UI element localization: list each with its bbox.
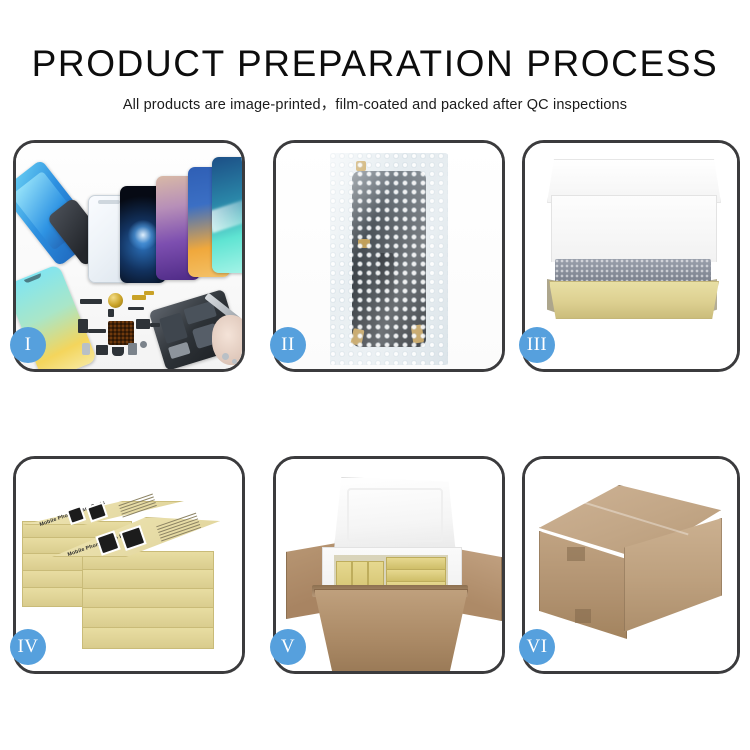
part-gold-flex-2 xyxy=(144,291,154,295)
step-4-artwork: Mobile Phone Spare Parts xyxy=(16,459,242,671)
step-badge-6: VI xyxy=(519,629,555,665)
part-strip-3 xyxy=(88,329,106,333)
stacked-box-fr-5 xyxy=(82,627,214,649)
step-badge-1: I xyxy=(10,327,46,363)
box-window-bl-b-screen xyxy=(88,504,105,520)
box-window-bl-a-screen xyxy=(68,507,83,522)
step-1-artwork xyxy=(16,143,242,369)
part-gold-flex-1 xyxy=(132,295,146,300)
step-5-artwork xyxy=(276,459,502,671)
carton-body xyxy=(314,589,468,671)
step-panel-6[interactable]: VI xyxy=(522,456,740,674)
carton-flap-tab-lower xyxy=(575,609,591,623)
part-screw-1 xyxy=(222,353,229,360)
speaker-module-icon xyxy=(108,293,123,308)
part-camera-lens xyxy=(82,343,90,355)
step-grid: I II xyxy=(0,0,750,750)
part-strip-4 xyxy=(150,323,160,327)
step-panel-3[interactable]: III xyxy=(522,140,740,372)
part-block-2 xyxy=(136,319,150,329)
bubble-wrap-bag-icon xyxy=(330,153,448,365)
part-strip-1 xyxy=(80,299,102,304)
step-panel-1[interactable]: I xyxy=(13,140,245,372)
step-panel-5[interactable]: V xyxy=(273,456,505,674)
step-6-artwork xyxy=(525,459,737,671)
step-2-artwork xyxy=(276,143,502,369)
step-panel-4[interactable]: Mobile Phone Spare Parts xyxy=(13,456,245,674)
stacked-box-fr-3 xyxy=(82,588,214,609)
logic-board-grid-icon xyxy=(108,321,134,345)
box-back-wall xyxy=(551,195,717,262)
plastic-sheen-overlay xyxy=(330,153,448,365)
step-badge-2: II xyxy=(270,327,306,363)
step-panel-2[interactable]: II xyxy=(273,140,505,372)
part-block-5 xyxy=(128,343,137,355)
part-block-4 xyxy=(112,347,124,356)
step-badge-5: V xyxy=(270,629,306,665)
part-block-3 xyxy=(96,345,108,355)
stacked-box-fr-4 xyxy=(82,607,214,629)
chassis-chip-d xyxy=(168,342,191,359)
part-strip-2 xyxy=(128,307,144,310)
foam-lid-open xyxy=(334,477,456,555)
part-button-round xyxy=(140,341,147,348)
product-preparation-infographic: PRODUCT PREPARATION PROCESS All products… xyxy=(0,0,750,750)
step-badge-3: III xyxy=(519,327,555,363)
box-window-fr-b-screen xyxy=(122,528,144,549)
box-window-fr-a-screen xyxy=(98,533,118,553)
stacked-box-fr-2 xyxy=(82,569,214,590)
carton-flap-tab-upper xyxy=(567,547,585,561)
step-3-artwork xyxy=(525,143,737,369)
part-block-6 xyxy=(108,309,114,317)
chassis-chip-a xyxy=(159,313,188,344)
part-block-1 xyxy=(78,319,88,333)
box-front-yellow xyxy=(549,281,719,319)
part-screw-2 xyxy=(232,359,237,364)
phone-teal-icon xyxy=(212,157,242,273)
step-badge-4: IV xyxy=(10,629,46,665)
